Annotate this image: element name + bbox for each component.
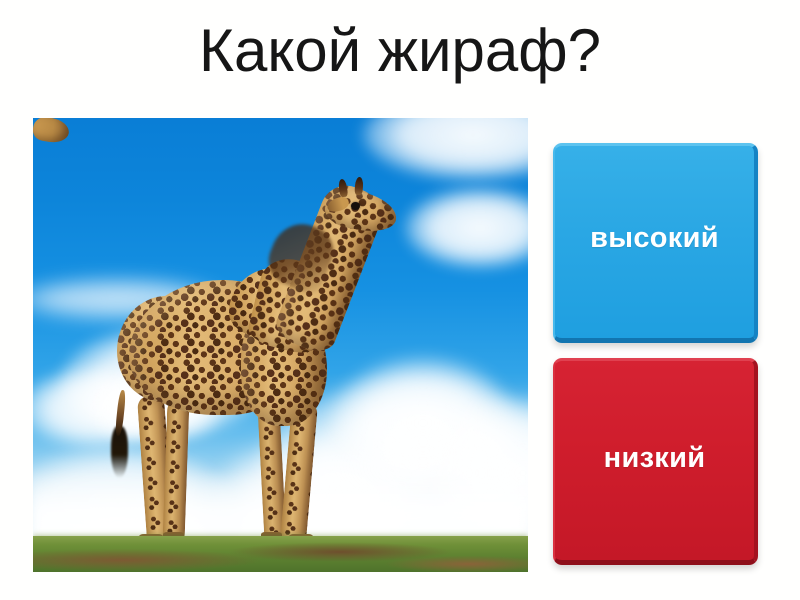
giraffe-muzzle <box>33 118 71 145</box>
page-title: Какой жираф? <box>0 18 800 84</box>
giraffe-ossicone <box>338 179 348 198</box>
giraffe-figure <box>33 118 528 572</box>
answer-button-high[interactable]: высокий <box>553 143 758 343</box>
giraffe-eye <box>351 202 360 210</box>
question-image <box>33 118 528 572</box>
giraffe-back-leg-right <box>163 400 190 543</box>
answer-button-low[interactable]: низкий <box>553 358 758 565</box>
ground <box>33 536 528 572</box>
giraffe-ossicone <box>354 177 363 196</box>
